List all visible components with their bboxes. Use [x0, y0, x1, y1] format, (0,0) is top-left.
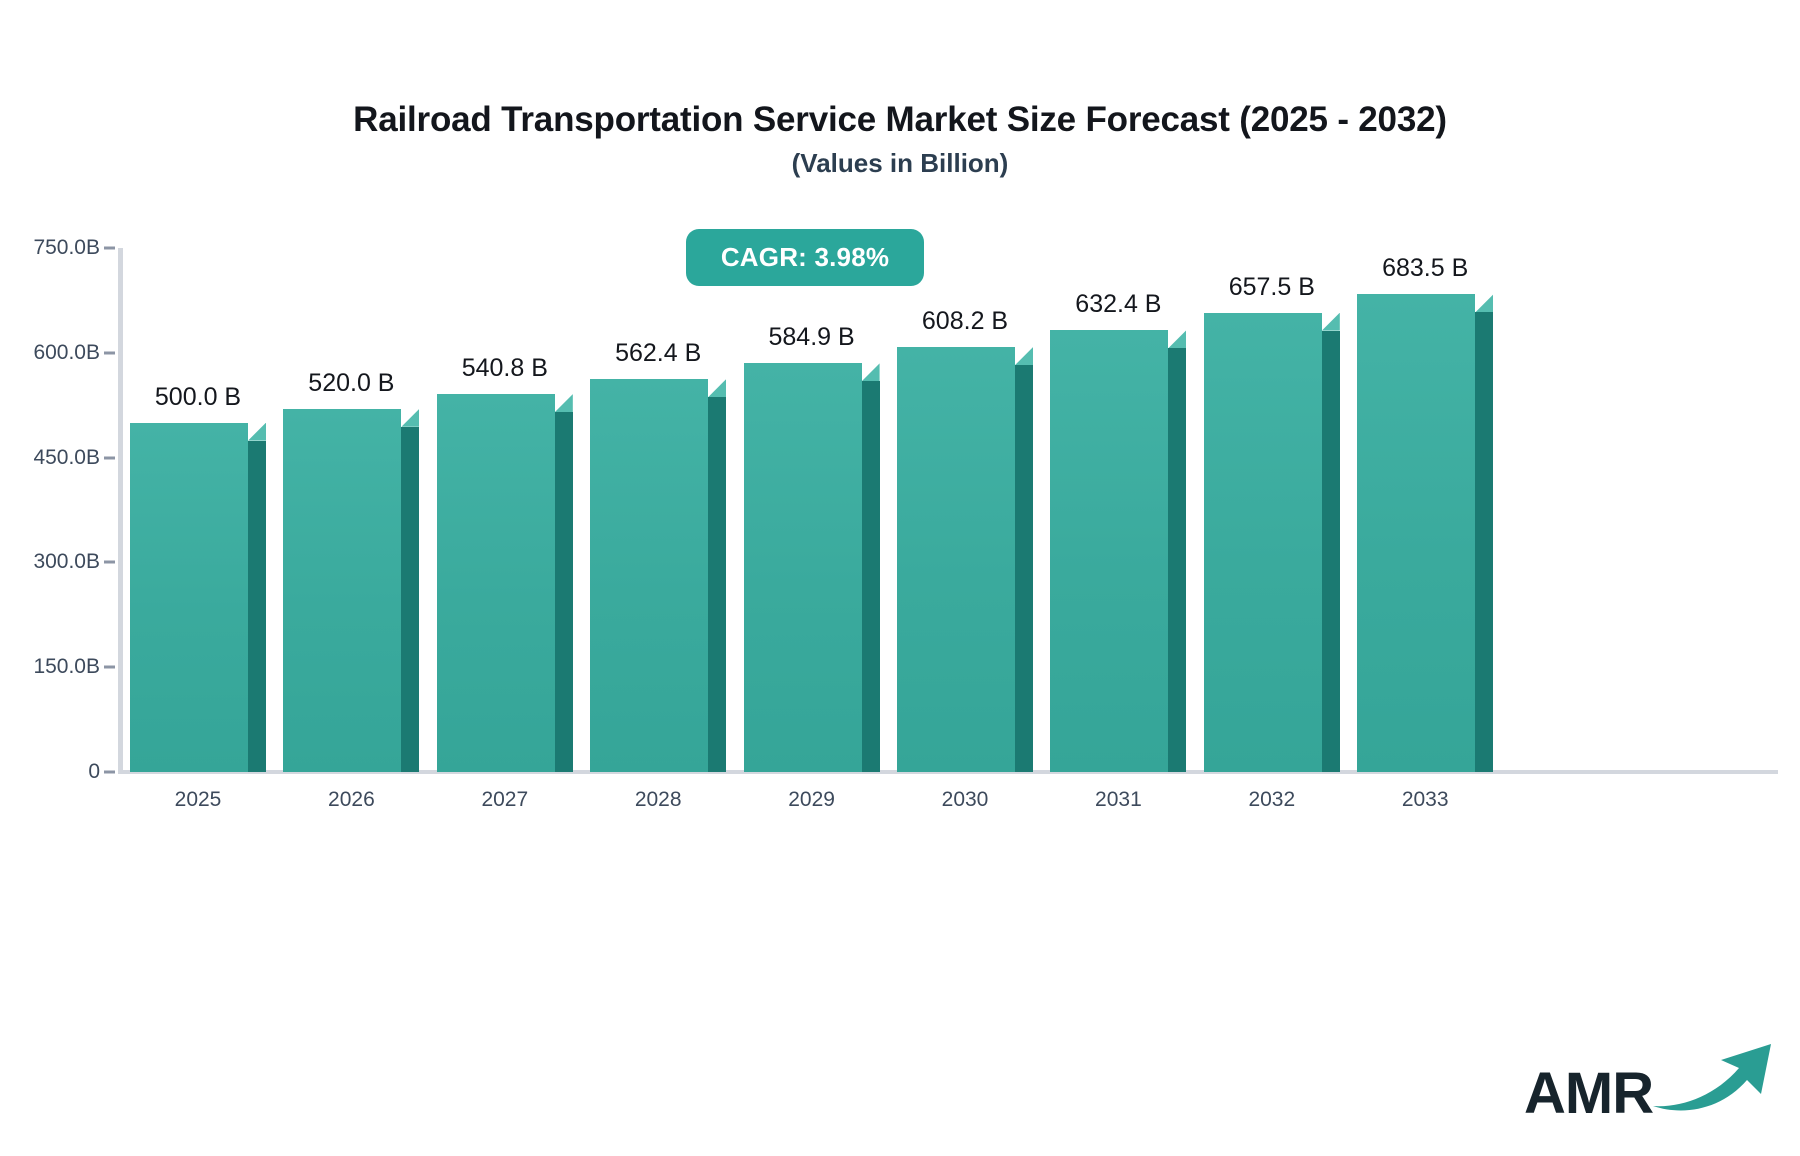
bar [130, 423, 248, 772]
bar-side-face [401, 427, 419, 772]
bar [744, 363, 862, 772]
y-axis-tick-mark [104, 561, 115, 564]
growth-arrow-icon [1647, 1038, 1779, 1119]
amr-logo: AMR [1524, 1038, 1779, 1121]
bar [1357, 294, 1475, 772]
bar-side-face [1322, 331, 1340, 772]
y-axis-tick-label: 150.0B [0, 655, 100, 679]
y-axis-tick-label: 600.0B [0, 341, 100, 365]
bar [437, 394, 555, 772]
bar-side-face [1015, 365, 1033, 772]
y-axis-tick-mark [104, 456, 115, 459]
chart-subtitle: (Values in Billion) [0, 148, 1800, 179]
bar-side-face [1168, 348, 1186, 772]
bar-front-face [130, 423, 248, 772]
x-axis-tick-label: 2033 [1305, 788, 1545, 812]
bar [897, 347, 1015, 772]
y-axis-tick-label: 750.0B [0, 236, 100, 260]
y-axis-tick-mark [104, 771, 115, 774]
bar-side-face [862, 381, 880, 772]
bar-front-face [1357, 294, 1475, 772]
y-axis-tick-mark [104, 351, 115, 354]
y-axis-tick-label: 450.0B [0, 446, 100, 470]
chart-canvas: Railroad Transportation Service Market S… [0, 0, 1800, 1156]
chart-title: Railroad Transportation Service Market S… [0, 100, 1800, 140]
bar [283, 409, 401, 772]
bar-front-face [437, 394, 555, 772]
y-axis-tick-mark [104, 666, 115, 669]
y-axis-tick-label: 0 [0, 760, 100, 784]
bar [1050, 330, 1168, 772]
bar-side-face [248, 441, 266, 772]
bar [1204, 313, 1322, 772]
bar-side-face [1475, 312, 1493, 772]
bar-front-face [283, 409, 401, 772]
y-axis-tick-label: 300.0B [0, 550, 100, 574]
bar-front-face [1204, 313, 1322, 772]
bar-side-face [555, 412, 573, 772]
bar-front-face [590, 379, 708, 772]
y-axis-tick-mark [104, 247, 115, 250]
bar-side-face [708, 397, 726, 772]
amr-wordmark: AMR [1524, 1066, 1653, 1121]
bar [590, 379, 708, 772]
bar-front-face [897, 347, 1015, 772]
bar-front-face [744, 363, 862, 772]
bar-value-label: 683.5 B [1305, 254, 1545, 283]
bar-front-face [1050, 330, 1168, 772]
